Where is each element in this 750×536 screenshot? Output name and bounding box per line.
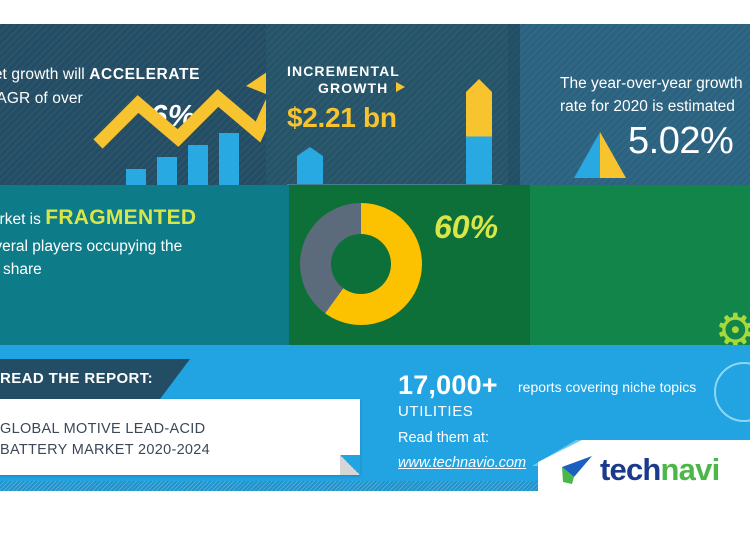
- panel-accelerate: arket growth will ACCELERATE a CAGR of o…: [0, 24, 268, 185]
- reports-caption: reports covering niche topics: [518, 379, 696, 395]
- category-label: UTILITIES: [398, 403, 473, 420]
- page-fold-corner: [340, 455, 360, 475]
- incremental-label-line1: INCREMENTAL: [287, 63, 400, 79]
- infographic-canvas: arket growth will ACCELERATE a CAGR of o…: [0, 0, 750, 536]
- apac-donut-chart: [300, 203, 422, 325]
- technavio-mark-icon: [560, 455, 594, 485]
- fragmented-line3: ket share: [0, 259, 42, 280]
- bottom-white-margin: [0, 491, 750, 536]
- apac-percent-value: 60%: [434, 209, 498, 246]
- yoy-line2: rate for 2020 is estimated: [560, 95, 735, 118]
- technavio-url-link[interactable]: www.technavio.com: [398, 455, 526, 471]
- incremental-label-line2: GROWTH: [318, 80, 388, 96]
- read-the-report-label: READ THE REPORT:: [0, 370, 153, 387]
- report-title-line1: GLOBAL MOTIVE LEAD-ACID: [0, 419, 210, 440]
- reports-count: 17,000+: [398, 370, 498, 401]
- fragmented-line2: several players occupying the: [0, 236, 182, 257]
- fragmented-line1-text: market is: [0, 211, 45, 228]
- yoy-line1: The year-over-year growth: [560, 72, 743, 95]
- yoy-value: 5.02%: [628, 120, 733, 163]
- report-title: GLOBAL MOTIVE LEAD-ACID BATTERY MARKET 2…: [0, 419, 210, 461]
- triangle-growth-icon: [572, 132, 634, 180]
- report-title-line2: BATTERY MARKET 2020-2024: [0, 440, 210, 461]
- fragmented-line1: market is FRAGMENTED: [0, 207, 196, 230]
- read-them-at-label: Read them at:: [398, 430, 489, 446]
- report-card[interactable]: GLOBAL MOTIVE LEAD-ACID BATTERY MARKET 2…: [0, 399, 360, 475]
- top-white-margin: [0, 0, 750, 24]
- logo-text-tech: tech: [600, 452, 661, 488]
- fragmented-keyword: FRAGMENTED: [45, 206, 196, 229]
- gear-icon: ⚙: [715, 307, 750, 345]
- technavio-logo[interactable]: tech navi: [560, 452, 719, 488]
- play-triangle-icon: [396, 82, 405, 92]
- bar-2024: [466, 79, 492, 184]
- row-market-structure: market is FRAGMENTED several players occ…: [0, 185, 750, 345]
- read-the-report-banner: READ THE REPORT:: [0, 359, 190, 399]
- panel-key-drivers: ⚙: [530, 185, 750, 345]
- accelerate-line2: a CAGR of over: [0, 88, 83, 109]
- row-market-metrics: arket growth will ACCELERATE a CAGR of o…: [0, 24, 750, 185]
- accelerate-line1-text: arket growth will: [0, 66, 89, 83]
- incremental-growth-value: $2.21 bn: [287, 102, 397, 134]
- logo-text-navi: navi: [661, 452, 720, 488]
